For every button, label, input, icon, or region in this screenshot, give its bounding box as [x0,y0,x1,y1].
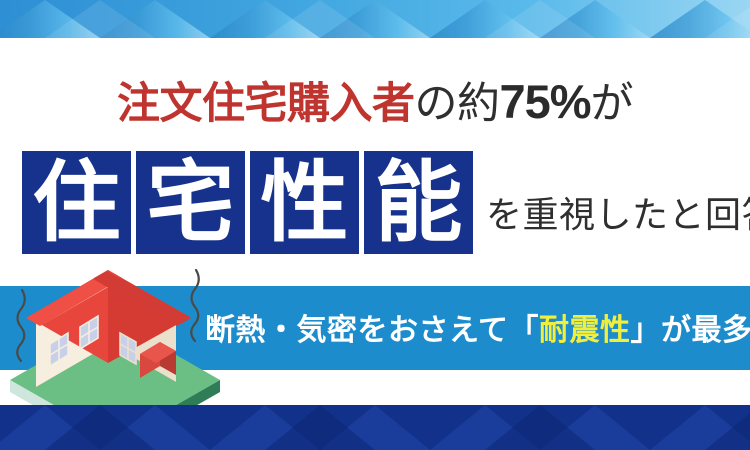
top-band-pattern [0,0,750,38]
headline-emphasis: 注文住宅購入者 [117,80,415,128]
boxed-char-3: 性 [250,151,359,254]
page-title: 注文住宅購入者の約75%が [0,78,750,126]
boxed-char-1: 住 [22,151,131,254]
boxed-char-4: 能 [364,151,473,254]
boxed-keyword: 住 宅 性 能 [22,151,478,254]
bottom-band-pattern [0,405,750,450]
subtitle-text: 断熱・気密をおさえて「耐震性」が最多に [205,305,750,349]
headline-number: 75% [499,75,590,128]
top-decorative-band [0,0,750,38]
subtitle-lead: 断熱・気密をおさえて「 [205,314,539,347]
headline-particle: が [591,80,634,128]
bottom-decorative-band [0,405,750,450]
subtitle-highlight: 耐震性 [539,314,631,347]
infographic-banner: 注文住宅購入者の約75%が 住 宅 性 能 を重視したと回答。 [0,0,750,450]
boxed-char-2: 宅 [136,151,245,254]
headline-connector: の約 [414,80,499,128]
shake-line-left [17,290,25,361]
headline-tail: を重視したと回答。 [486,186,750,238]
shake-line-right [191,270,199,341]
subtitle-trail: 」が最多に [631,314,750,347]
